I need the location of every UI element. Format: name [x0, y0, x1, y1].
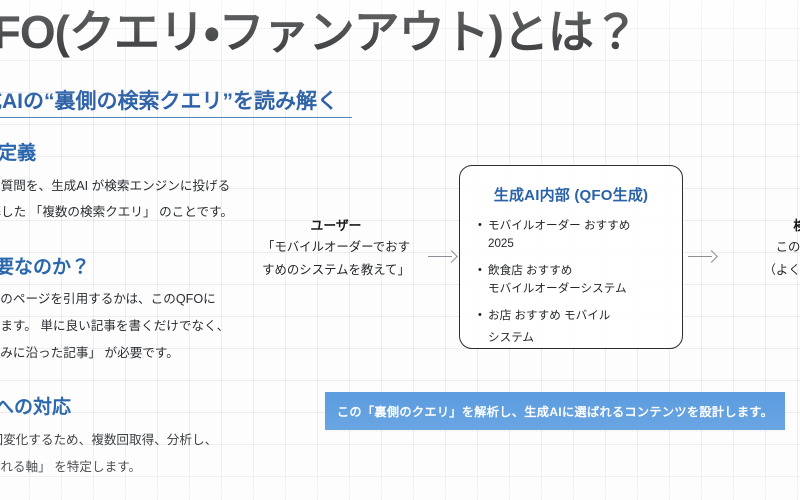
- page-title: QFO(クエリ・ファンアウト)とは？: [0, 6, 718, 59]
- diagram-result-block: 検索結果 この中から引用 （よく使われる軸）: [724, 216, 800, 281]
- user-query-line: 「モバイルオーダーでおす: [246, 236, 426, 258]
- qfo-query-line1: モバイルオーダー おすすめ: [488, 219, 630, 232]
- page-subtitle: 生成AIの“裏側の検索クエリ”を読み解く: [0, 88, 360, 115]
- section-line: 「よく使われる軸」 を特定します。: [0, 454, 268, 481]
- arrow-right-icon: [428, 250, 458, 264]
- summary-banner: この「裏側のクエリ」を解析し、生成AIに選ばれるコンテンツを設計します。: [325, 392, 785, 430]
- result-heading: 検索結果: [724, 216, 800, 236]
- section-fluctuation: ゆらぎへの対応 QFOは毎回変化するため、複数回取得、分析し、 「よく使われる軸…: [0, 394, 268, 480]
- arrow-head: [705, 250, 718, 263]
- section-importance: なぜ重要なのか？ 生成AIがどのページを引用するかは、このQFOに かかっていま…: [0, 254, 268, 367]
- spacer: [0, 232, 268, 254]
- user-query-line: すめのシステムを教えて」: [246, 259, 426, 281]
- qfo-query-list: モバイルオーダー おすすめ 2025 飲食店 おすすめ モバイルオーダーシステム…: [474, 217, 668, 347]
- section-line: かかっています。 単に良い記事を書くだけでなく、: [0, 313, 268, 340]
- subtitle-underline: [0, 117, 352, 118]
- qfo-query-line1: お店 おすすめ モバイル: [488, 309, 610, 322]
- user-heading: ユーザー: [246, 216, 426, 236]
- section-line: ために分解した 「複数の検索クエリ」 のことです。: [0, 199, 268, 226]
- section-definition: QFOの定義 ユーザーの質問を、生成AI が検索エンジンに投げる ために分解した…: [0, 140, 268, 226]
- summary-banner-text: この「裏側のクエリ」を解析し、生成AIに選ばれるコンテンツを設計します。: [337, 402, 773, 420]
- qfo-generation-box: 生成AI内部 (QFO生成) モバイルオーダー おすすめ 2025 飲食店 おす…: [459, 165, 683, 349]
- qfo-query-item: お店 おすすめ モバイル システム: [478, 307, 668, 347]
- qfo-query-line2: 2025: [488, 235, 668, 253]
- arrow-head: [445, 250, 458, 263]
- qfo-box-title: 生成AI内部 (QFO生成): [474, 184, 668, 205]
- spacer: [0, 372, 268, 394]
- diagram-user-block: ユーザー 「モバイルオーダーでおす すめのシステムを教えて」: [246, 216, 426, 281]
- section-heading: QFOの定義: [0, 140, 268, 169]
- section-line: 生成AIがどのページを引用するかは、このQFOに: [0, 286, 268, 313]
- section-heading: ゆらぎへの対応: [0, 394, 268, 423]
- section-line: 「AIの仕組みに沿った記事」 が必要です。: [0, 340, 268, 367]
- qfo-query-line2: システム: [488, 329, 668, 347]
- section-line: QFOは毎回変化するため、複数回取得、分析し、: [0, 427, 268, 454]
- result-line: （よく使われる軸）: [724, 259, 800, 281]
- qfo-query-line2: モバイルオーダーシステム: [488, 280, 668, 298]
- slide-canvas: QFO(クエリ・ファンアウト)とは？ 生成AIの“裏側の検索クエリ”を読み解く …: [0, 0, 800, 500]
- arrow-right-icon: [688, 250, 718, 264]
- section-line: ユーザーの質問を、生成AI が検索エンジンに投げる: [0, 173, 268, 200]
- section-heading: なぜ重要なのか？: [0, 254, 268, 283]
- qfo-query-item: 飲食店 おすすめ モバイルオーダーシステム: [478, 262, 668, 298]
- left-text-column: QFOの定義 ユーザーの質問を、生成AI が検索エンジンに投げる ために分解した…: [0, 140, 268, 486]
- result-line: この中から引用: [724, 236, 800, 258]
- qfo-query-item: モバイルオーダー おすすめ 2025: [478, 217, 668, 253]
- qfo-query-line1: 飲食店 おすすめ: [488, 264, 572, 277]
